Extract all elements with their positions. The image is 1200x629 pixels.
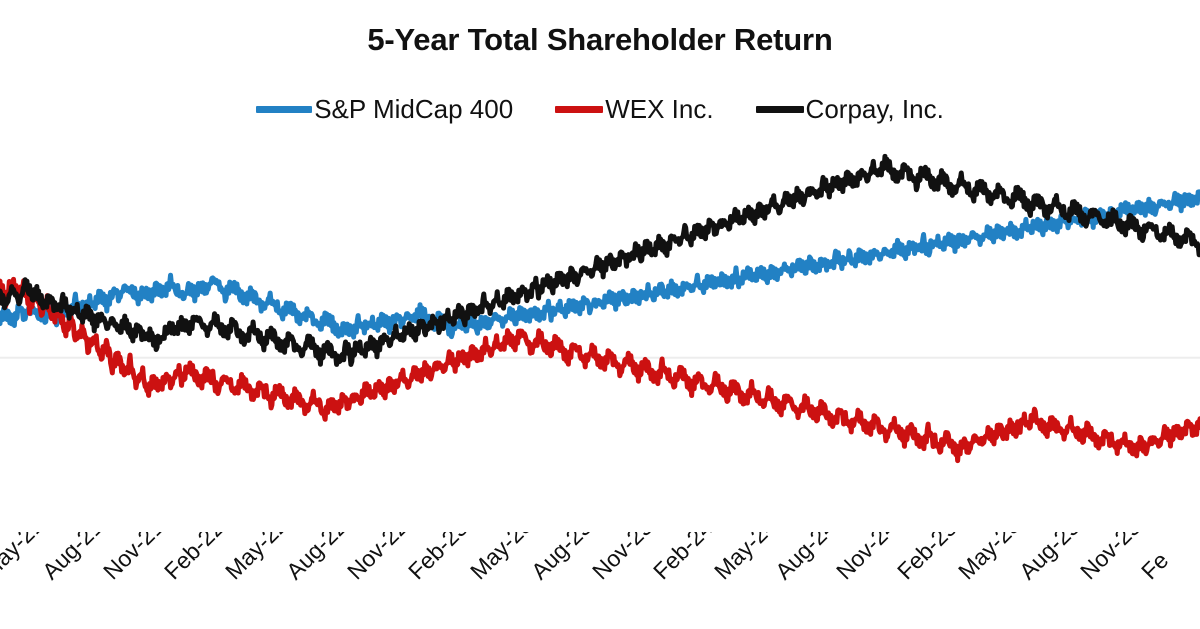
x-tick-label: Feb-24	[648, 532, 718, 584]
x-tick-label: May-24	[709, 532, 782, 584]
x-tick-label: Nov-21	[98, 532, 169, 584]
x-tick-label: Nov-22	[342, 532, 413, 584]
shareholder-return-chart-figure: 5-Year Total Shareholder Return S&P MidC…	[0, 0, 1200, 629]
x-tick-label: Aug-22	[281, 532, 352, 584]
legend-label-wex-inc: WEX Inc.	[605, 94, 713, 124]
legend-swatch-corpay-inc	[756, 106, 804, 113]
x-tick-label: Feb-22	[159, 532, 229, 584]
series-line-corpay-inc	[0, 156, 1200, 364]
x-tick-label: Feb-25	[892, 532, 962, 584]
x-tick-label: Aug-24	[770, 532, 841, 584]
legend-item-corpay-inc[interactable]: Corpay, Inc.	[756, 92, 944, 126]
chart-legend: S&P MidCap 400 WEX Inc. Corpay, Inc.	[0, 92, 1200, 126]
plot-area	[0, 140, 1200, 532]
x-axis-tick-labels: May-21Aug-21Nov-21Feb-22May-22Aug-22Nov-…	[0, 532, 1200, 629]
x-tick-label: May-23	[465, 532, 538, 584]
legend-item-wex-inc[interactable]: WEX Inc.	[555, 92, 713, 126]
legend-swatch-wex-inc	[555, 106, 603, 113]
legend-swatch-sp-midcap-400	[256, 106, 312, 113]
x-tick-label: Nov-23	[587, 532, 658, 584]
x-tick-label: Fe	[1136, 547, 1173, 584]
x-tick-label: Aug-23	[526, 532, 597, 584]
series-lines	[0, 156, 1200, 460]
x-tick-label: May-21	[0, 532, 49, 584]
x-tick-label: Feb-23	[403, 532, 473, 584]
x-tick-label: Aug-25	[1014, 532, 1085, 584]
x-tick-label: Aug-21	[37, 532, 108, 584]
legend-label-corpay-inc: Corpay, Inc.	[806, 94, 944, 124]
chart-title: 5-Year Total Shareholder Return	[0, 20, 1200, 60]
x-tick-label: Nov-25	[1075, 532, 1146, 584]
series-plot-svg	[0, 140, 1200, 532]
legend-label-sp-midcap-400: S&P MidCap 400	[314, 94, 513, 124]
x-tick-label: Nov-24	[831, 532, 902, 584]
legend-item-sp-midcap-400[interactable]: S&P MidCap 400	[256, 92, 513, 126]
x-tick-label: May-22	[220, 532, 293, 584]
x-tick-label: May-25	[953, 532, 1026, 584]
